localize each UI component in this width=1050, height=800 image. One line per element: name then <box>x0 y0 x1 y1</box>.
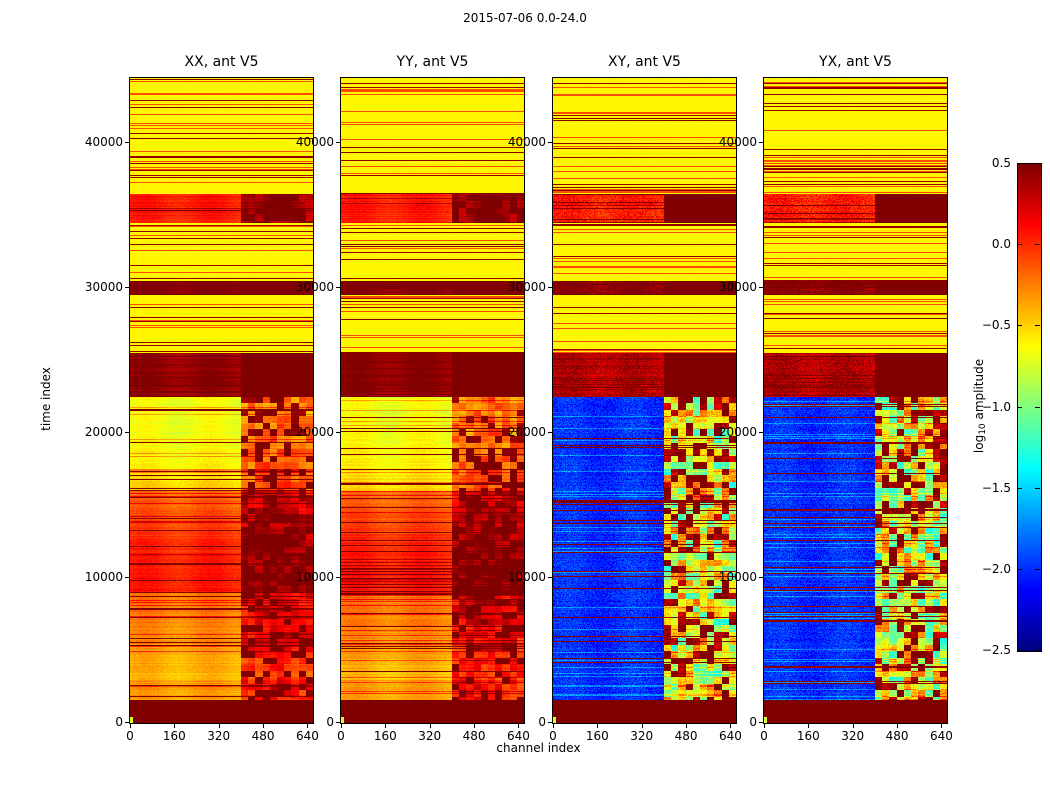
y-tick-mark <box>548 142 552 143</box>
panel-yy[interactable]: YY, ant V5 0160320480640 <box>340 77 525 724</box>
y-tick-mark <box>548 577 552 578</box>
y-tick-label: 40000 <box>282 135 334 149</box>
y-tick-mark <box>759 432 763 433</box>
colorbar-tick-mark <box>1035 650 1040 651</box>
y-tick-mark <box>548 722 552 723</box>
x-tick-mark <box>341 724 342 728</box>
y-tick-label: 30000 <box>71 280 123 294</box>
x-tick-mark <box>385 724 386 728</box>
y-tick-label: 40000 <box>705 135 757 149</box>
x-tick-mark <box>474 724 475 728</box>
heatmap-yx <box>764 78 947 723</box>
colorbar-tick-mark <box>1017 407 1022 408</box>
y-tick-mark <box>125 432 129 433</box>
x-tick-mark <box>263 724 264 728</box>
y-tick-label: 10000 <box>705 570 757 584</box>
y-tick-mark <box>759 577 763 578</box>
panel-title-xy: XY, ant V5 <box>553 54 736 70</box>
x-tick-mark <box>686 724 687 728</box>
y-tick-label: 40000 <box>71 135 123 149</box>
colorbar-tick-mark <box>1017 244 1022 245</box>
colorbar-tick-mark <box>1035 325 1040 326</box>
panel-title-yy: YY, ant V5 <box>341 54 524 70</box>
y-tick-mark <box>336 722 340 723</box>
y-tick-mark <box>336 142 340 143</box>
y-tick-mark <box>759 142 763 143</box>
colorbar-tick-label: −0.5 <box>982 318 1011 332</box>
colorbar-tick-label: −1.5 <box>982 481 1011 495</box>
y-tick-label: 20000 <box>282 425 334 439</box>
x-tick-mark <box>597 724 598 728</box>
figure-suptitle: 2015-07-06 0.0-24.0 <box>0 11 1050 25</box>
x-tick-mark <box>553 724 554 728</box>
y-tick-label: 10000 <box>282 570 334 584</box>
y-tick-label: 0 <box>494 715 546 729</box>
x-tick-mark <box>941 724 942 728</box>
x-tick-mark <box>430 724 431 728</box>
panel-xy[interactable]: XY, ant V5 0160320480640 <box>552 77 737 724</box>
panel-yx[interactable]: YX, ant V5 0160320480640 <box>763 77 948 724</box>
colorbar-tick-mark <box>1035 163 1040 164</box>
heatmap-xy <box>553 78 736 723</box>
y-tick-mark <box>759 722 763 723</box>
y-tick-label: 30000 <box>705 280 757 294</box>
y-tick-mark <box>125 287 129 288</box>
y-tick-mark <box>548 287 552 288</box>
y-tick-mark <box>336 432 340 433</box>
y-tick-label: 20000 <box>71 425 123 439</box>
y-tick-mark <box>125 722 129 723</box>
y-tick-label: 30000 <box>282 280 334 294</box>
colorbar-tick-label: −2.0 <box>982 562 1011 576</box>
y-tick-mark <box>336 287 340 288</box>
x-tick-mark <box>174 724 175 728</box>
colorbar-label-text: log10 amplitude <box>972 359 986 453</box>
colorbar-gradient <box>1018 164 1041 651</box>
heatmap-xx <box>130 78 313 723</box>
colorbar-label: log10 amplitude <box>972 359 988 453</box>
y-tick-mark <box>336 577 340 578</box>
x-tick-mark <box>130 724 131 728</box>
colorbar-tick-mark <box>1017 569 1022 570</box>
colorbar-tick-label: 0.5 <box>992 156 1011 170</box>
x-tick-mark <box>219 724 220 728</box>
colorbar-tick-mark <box>1017 650 1022 651</box>
colorbar-tick-mark <box>1035 569 1040 570</box>
colorbar-tick-label: −2.5 <box>982 643 1011 657</box>
y-tick-label: 0 <box>71 715 123 729</box>
y-tick-label: 10000 <box>494 570 546 584</box>
panel-title-xx: XX, ant V5 <box>130 54 313 70</box>
x-tick-mark <box>808 724 809 728</box>
panel-title-yx: YX, ant V5 <box>764 54 947 70</box>
y-tick-mark <box>125 577 129 578</box>
y-tick-label: 0 <box>705 715 757 729</box>
y-axis-label: time index <box>39 367 53 431</box>
x-tick-mark <box>764 724 765 728</box>
y-tick-label: 10000 <box>71 570 123 584</box>
colorbar-tick-mark <box>1017 163 1022 164</box>
y-tick-label: 30000 <box>494 280 546 294</box>
y-tick-mark <box>759 287 763 288</box>
x-axis-label: channel index <box>129 741 948 755</box>
y-tick-mark <box>548 432 552 433</box>
figure-canvas: 2015-07-06 0.0-24.0 XX, ant V5 016032048… <box>0 0 1050 800</box>
x-tick-mark <box>642 724 643 728</box>
colorbar-tick-mark <box>1035 407 1040 408</box>
colorbar-tick-mark <box>1017 325 1022 326</box>
panel-xx[interactable]: XX, ant V5 0160320480640 <box>129 77 314 724</box>
x-tick-mark <box>897 724 898 728</box>
colorbar-tick-mark <box>1017 488 1022 489</box>
y-tick-label: 40000 <box>494 135 546 149</box>
colorbar[interactable] <box>1017 163 1042 652</box>
y-tick-label: 20000 <box>705 425 757 439</box>
x-tick-mark <box>853 724 854 728</box>
colorbar-tick-mark <box>1035 488 1040 489</box>
colorbar-tick-label: 0.0 <box>992 237 1011 251</box>
colorbar-tick-mark <box>1035 244 1040 245</box>
y-tick-mark <box>125 142 129 143</box>
y-tick-label: 0 <box>282 715 334 729</box>
heatmap-yy <box>341 78 524 723</box>
y-tick-label: 20000 <box>494 425 546 439</box>
